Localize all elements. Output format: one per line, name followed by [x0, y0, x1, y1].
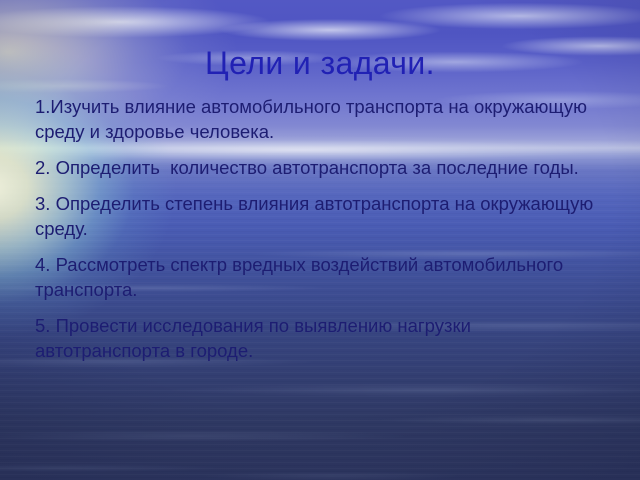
presentation-slide: Цели и задачи. 1.Изучить влияние автомоб…: [0, 0, 640, 480]
slide-title: Цели и задачи.: [0, 44, 640, 82]
slide-content: Цели и задачи. 1.Изучить влияние автомоб…: [0, 0, 640, 480]
list-item: 5. Провести исследования по выявлению на…: [35, 313, 607, 363]
list-item: 3. Определить степень влияния автотрансп…: [35, 191, 607, 241]
list-item: 2. Определить количество автотранспорта …: [35, 155, 607, 180]
list-item: 4. Рассмотреть спектр вредных воздействи…: [35, 252, 607, 302]
list-item: 1.Изучить влияние автомобильного транспо…: [35, 94, 607, 144]
objectives-list: 1.Изучить влияние автомобильного транспо…: [35, 94, 607, 363]
